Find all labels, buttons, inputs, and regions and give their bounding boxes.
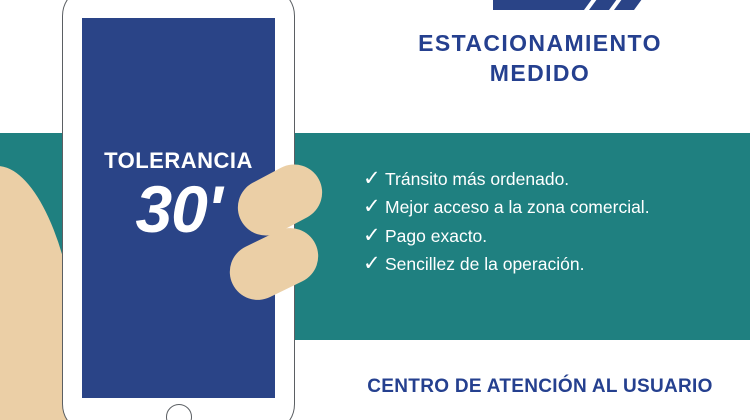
check-icon: ✓ [363, 253, 385, 274]
list-item-label: Sencillez de la operación. [385, 253, 584, 275]
footer-title: CENTRO DE ATENCIÓN AL USUARIO [330, 376, 750, 398]
check-icon: ✓ [363, 225, 385, 246]
check-icon: ✓ [363, 168, 385, 189]
poster: TOLERANCIA 30' ESTACIONAMIENTO MEDIDO ✓ … [0, 0, 750, 420]
list-item-label: Pago exacto. [385, 225, 487, 247]
list-item: ✓ Tránsito más ordenado. [363, 168, 743, 190]
list-item: ✓ Pago exacto. [363, 225, 743, 247]
check-icon: ✓ [363, 196, 385, 217]
speed-lines-logo-icon [493, 0, 643, 14]
benefits-list: ✓ Tránsito más ordenado. ✓ Mejor acceso … [363, 168, 743, 282]
list-item: ✓ Sencillez de la operación. [363, 253, 743, 275]
list-item-label: Tránsito más ordenado. [385, 168, 569, 190]
list-item: ✓ Mejor acceso a la zona comercial. [363, 196, 743, 218]
list-item-label: Mejor acceso a la zona comercial. [385, 196, 650, 218]
page-title: ESTACIONAMIENTO MEDIDO [330, 28, 750, 89]
page-title-line-2: MEDIDO [330, 58, 750, 88]
page-title-line-1: ESTACIONAMIENTO [330, 28, 750, 58]
